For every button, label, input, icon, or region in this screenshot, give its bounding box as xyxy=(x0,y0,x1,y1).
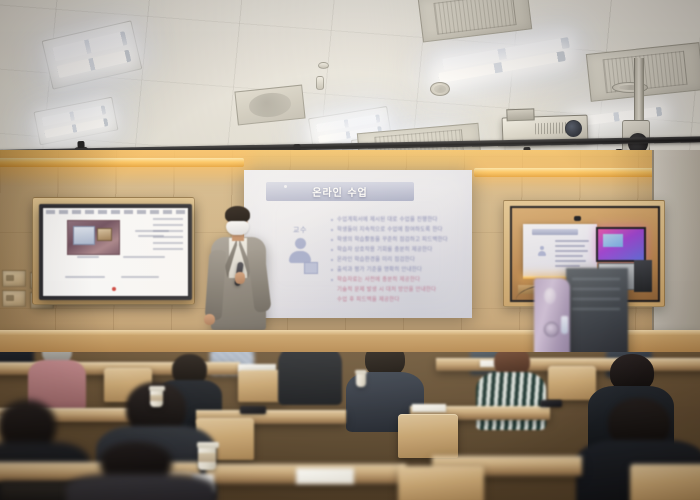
page-top-nav xyxy=(46,210,185,214)
chair-back xyxy=(630,464,700,500)
left-wall-display[interactable] xyxy=(39,204,192,300)
coffee-cup xyxy=(150,388,163,407)
slide-bullet: 기술적 문제 발생 시 대처 방안을 안내한다 xyxy=(330,286,462,295)
page-accent-dot xyxy=(112,287,116,291)
slide-bullet: 학습자료는 사전에 충분히 제공한다 xyxy=(330,276,462,285)
chair-back xyxy=(398,466,484,500)
presenter xyxy=(208,206,270,330)
slide-bullet-list: 수업계획서에 제시된 대로 수업을 진행한다 학생들이 지속적으로 수업에 참여… xyxy=(330,216,462,306)
feed-av-cabinet xyxy=(634,260,652,292)
cup-lid xyxy=(149,386,165,391)
slide-bullet: 온라인 학습환경을 미리 점검한다 xyxy=(330,256,462,265)
audience-seating-area xyxy=(0,352,700,500)
ceiling-speaker xyxy=(430,82,450,96)
ceiling-speaker xyxy=(234,85,305,126)
audience-member xyxy=(66,442,216,500)
handout-paper xyxy=(412,404,446,412)
slide-bullet: 출석과 평가 기준을 명확히 안내한다 xyxy=(330,266,462,275)
professor-icon-label: 교수 xyxy=(293,225,307,235)
handout-paper xyxy=(296,468,354,484)
cup-sleeve xyxy=(150,395,163,401)
face-mask xyxy=(226,221,249,235)
smoke-detector xyxy=(316,76,324,90)
water-bottle xyxy=(561,316,568,334)
smartphone xyxy=(240,406,266,414)
wall-control-panel[interactable] xyxy=(2,290,26,307)
displayed-webpage xyxy=(43,208,188,296)
person-head-shape xyxy=(295,238,306,249)
feed-slide-title-bar xyxy=(532,229,578,235)
presenter-hand xyxy=(235,272,245,284)
page-photo-thumbnail xyxy=(67,220,120,255)
av-cabinet xyxy=(566,268,628,360)
slide-bullet: 학생들이 지속적으로 수업에 참여하도록 한다 xyxy=(330,226,462,235)
professor-icon: 교수 xyxy=(278,225,322,275)
smartphone xyxy=(540,400,562,407)
page-sidebar-links xyxy=(153,218,183,252)
cup-lid xyxy=(355,370,367,374)
feed-side-monitor xyxy=(596,227,646,262)
projector-lens xyxy=(565,120,583,138)
feed-professor-icon xyxy=(538,246,546,258)
wall-control-panel[interactable] xyxy=(2,270,26,287)
audience-member xyxy=(278,352,342,404)
monitor-glyph xyxy=(304,262,318,274)
chair-back xyxy=(398,414,458,458)
main-projection-screen: 온라인 수업 교수 수업계획서에 제시된 대로 수업을 진행한다 학생들이 지속… xyxy=(244,170,472,318)
slide-bullet: 학습자 상호작용 기회를 충분히 제공한다 xyxy=(330,246,462,255)
projector-mount-pole xyxy=(634,58,644,122)
coffee-cup xyxy=(356,372,366,387)
smoke-detector xyxy=(318,62,329,69)
slide-bullet: 수업계획서에 제시된 대로 수업을 진행한다 xyxy=(330,216,462,225)
lecture-hall-photo: 온라인 수업 교수 수업계획서에 제시된 대로 수업을 진행한다 학생들이 지속… xyxy=(0,0,700,500)
feed-ceiling-camera xyxy=(574,216,581,221)
presenter-hand xyxy=(204,314,215,325)
slide-bullet: 수업 후 피드백을 제공한다 xyxy=(330,296,462,305)
slide-title: 온라인 수업 xyxy=(266,182,414,201)
slide-bullet: 학생의 학습활동을 꾸준히 점검하고 피드백한다 xyxy=(330,236,462,245)
